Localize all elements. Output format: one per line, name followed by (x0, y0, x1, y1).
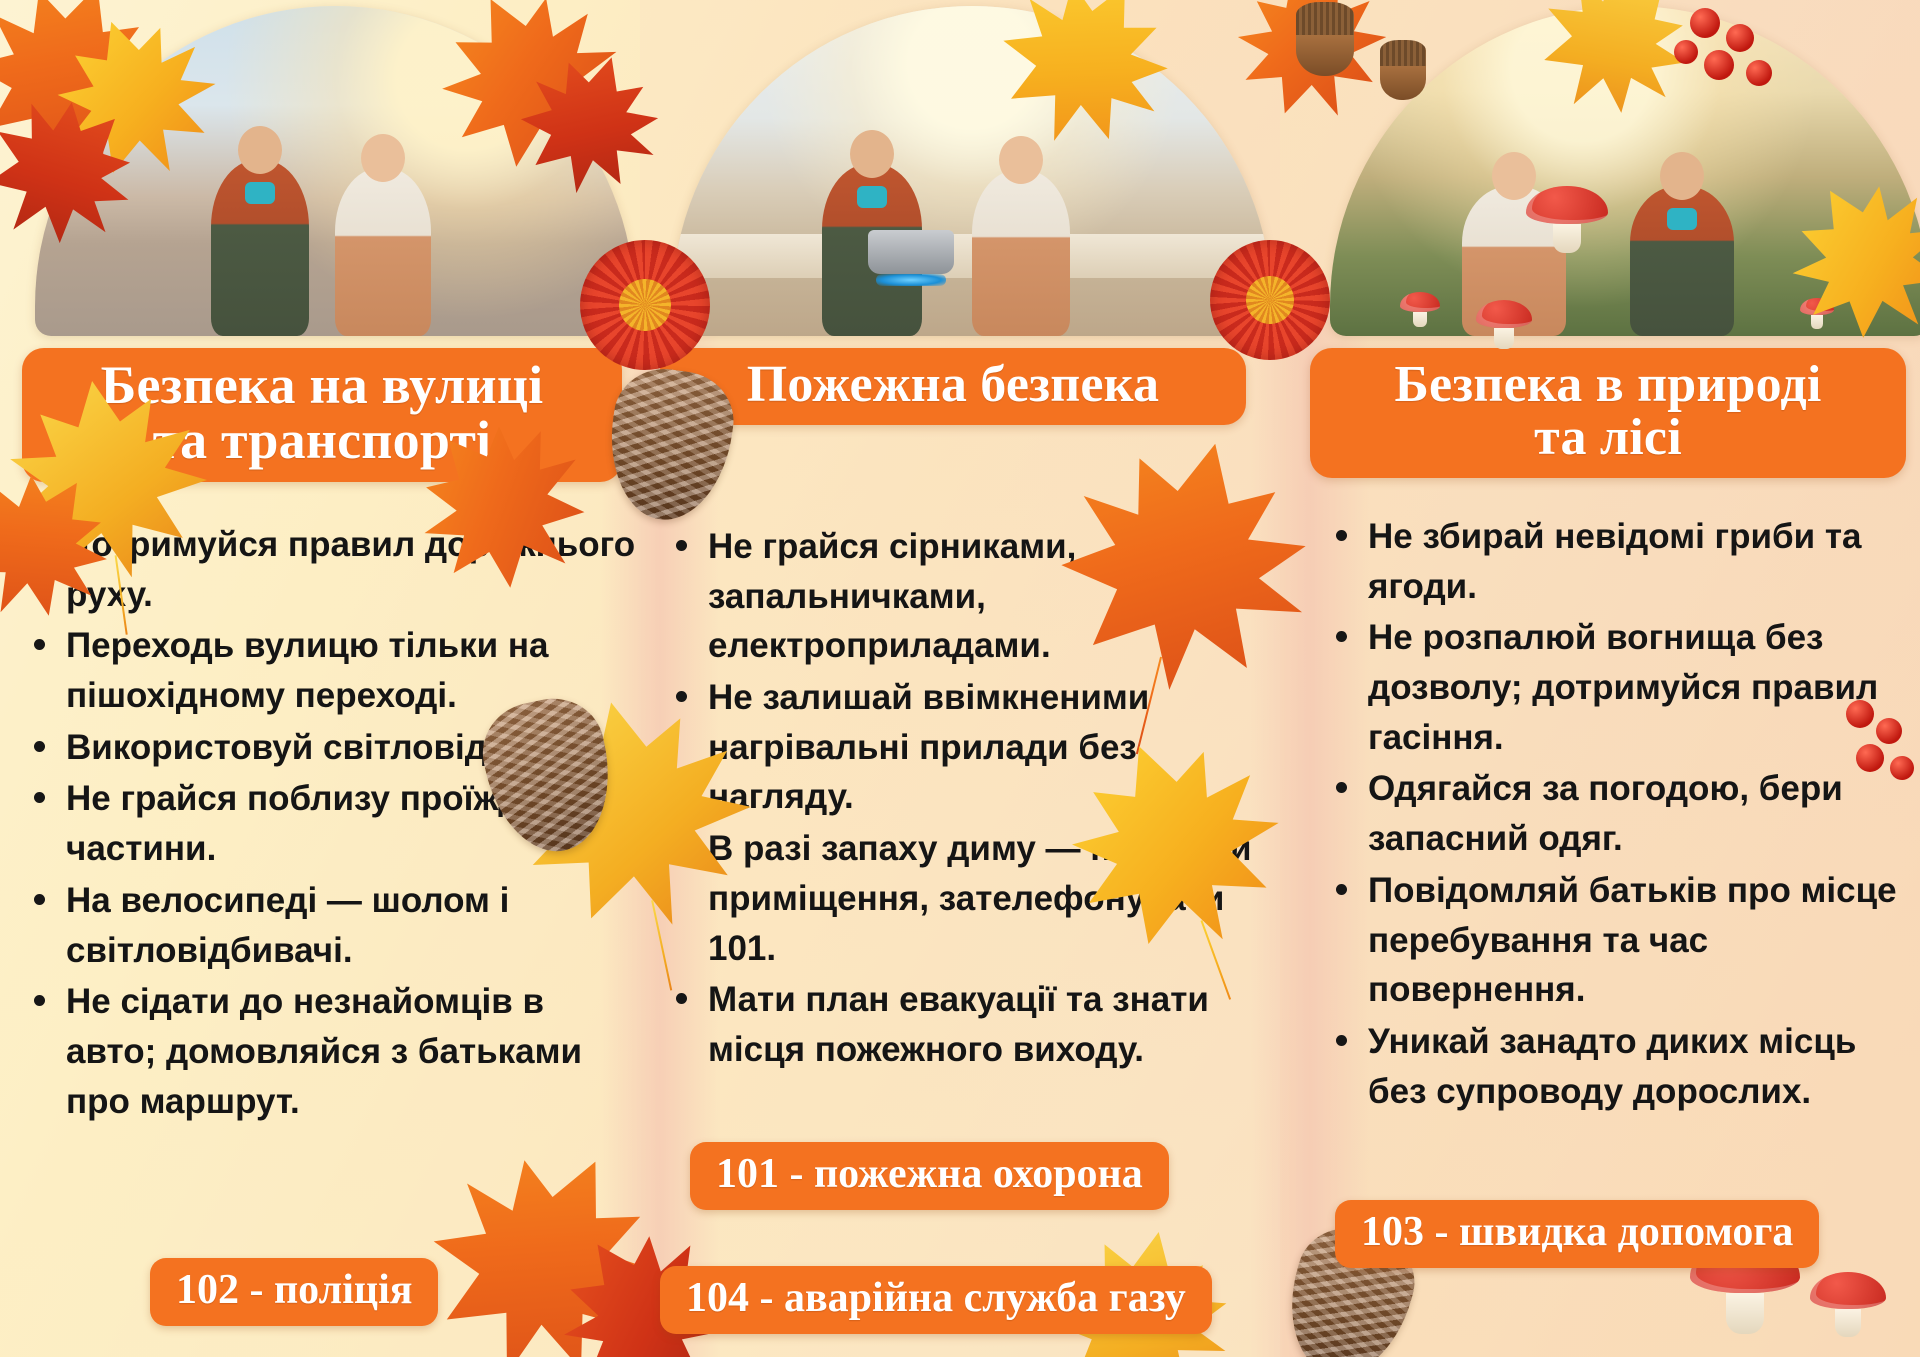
header-images (0, 0, 1920, 345)
emergency-badge-ambulance: 103 - швидка допомога (1335, 1200, 1819, 1268)
emergency-badge-police: 102 - поліція (150, 1258, 438, 1326)
list-item: Не сідати до незнайомців в авто; домовля… (18, 977, 638, 1126)
list-item: Використовуй світловідбивачі. (18, 723, 638, 773)
list-item: Не розпалюй вогнища без дозволу; дотриму… (1320, 613, 1920, 762)
forest-safety-illustration (1330, 6, 1920, 336)
mushroom-icon (1810, 1272, 1886, 1336)
list-item: Не збирай невідомі гриби та ягоди. (1320, 512, 1920, 611)
list-item: Не залишай ввімкненими нагрівальні прила… (660, 673, 1260, 822)
column-title-street: Безпека на вулиці та транспорті (22, 348, 622, 482)
title-line-2: та транспорті (40, 413, 604, 468)
fire-safety-rules: Не грайся сірниками, запальничками, елек… (660, 522, 1260, 1077)
title-line-2: та лісі (1328, 411, 1888, 464)
title-line-1: Пожежна безпека (747, 356, 1159, 413)
list-item: В разі запаху диму — покинути приміщення… (660, 824, 1260, 973)
street-safety-illustration (35, 6, 635, 336)
list-item: Не грайся поблизу проїжджої частини. (18, 774, 638, 873)
title-line-1: Безпека в природі (1394, 356, 1821, 413)
list-item: Переходь вулицю тільки на пішохідному пе… (18, 621, 638, 720)
list-item: Не грайся сірниками, запальничками, елек… (660, 522, 1260, 671)
kitchen-fire-safety-illustration (672, 6, 1272, 336)
safety-poster: Безпека на вулиці та транспорті Пожежна … (0, 0, 1920, 1357)
emergency-badge-gas: 104 - аварійна служба газу (660, 1266, 1212, 1334)
nature-safety-rules: Не збирай невідомі гриби та ягоди. Не ро… (1320, 512, 1920, 1118)
column-title-nature: Безпека в природі та лісі (1310, 348, 1906, 478)
list-item: Дотримуйся правил дорожнього руху. (18, 520, 638, 619)
column-title-fire: Пожежна безпека (660, 348, 1246, 425)
street-safety-rules: Дотримуйся правил дорожнього руху. Перех… (18, 520, 638, 1128)
list-item: Одягайся за погодою, бери запасний одяг. (1320, 764, 1920, 863)
list-item: Мати план евакуації та знати місця пожеж… (660, 975, 1260, 1074)
maple-leaf-icon (391, 1111, 699, 1357)
list-item: Повідомляй батьків про місце перебування… (1320, 866, 1920, 1015)
emergency-badge-fire: 101 - пожежна охорона (690, 1142, 1169, 1210)
list-item: Уникай занадто диких місць без супроводу… (1320, 1017, 1920, 1116)
title-line-1: Безпека на вулиці (101, 355, 544, 415)
list-item: На велосипеді — шолом і світловідбивачі. (18, 876, 638, 975)
